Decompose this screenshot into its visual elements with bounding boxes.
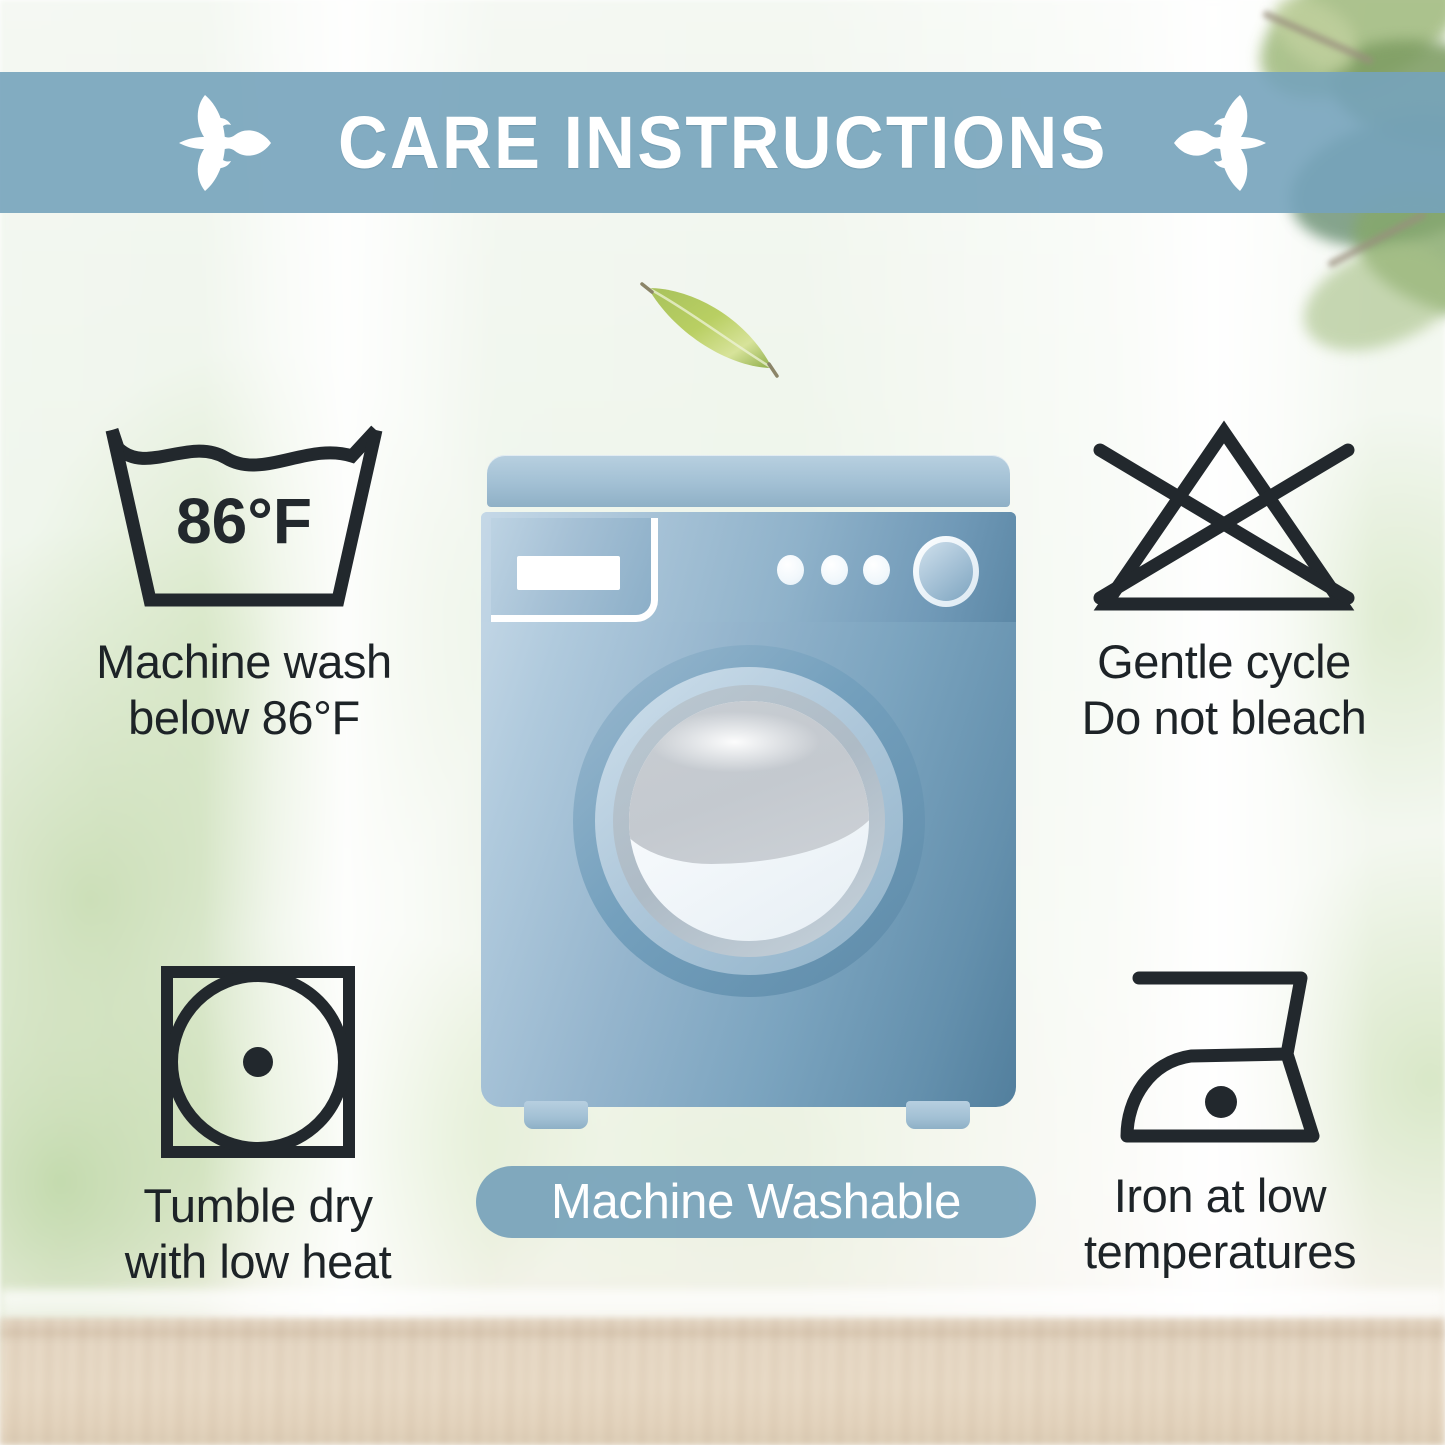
machine-washable-badge: Machine Washable bbox=[476, 1166, 1036, 1238]
fleur-de-lis-icon bbox=[165, 93, 285, 193]
machine-foot bbox=[524, 1101, 588, 1129]
program-dial-inner bbox=[919, 542, 973, 601]
fleur-de-lis-icon bbox=[1160, 93, 1280, 193]
detergent-drawer-slot bbox=[517, 556, 620, 590]
control-indicator-dot bbox=[863, 555, 890, 585]
care-symbol-caption: Gentle cycle Do not bleach bbox=[1082, 634, 1367, 747]
care-symbol-machine-wash: 86°F Machine wash below 86°F bbox=[24, 418, 464, 747]
control-indicator-dot bbox=[821, 555, 848, 585]
door-ring-inner bbox=[613, 685, 885, 957]
care-symbol-do-not-bleach: Gentle cycle Do not bleach bbox=[1004, 418, 1444, 747]
door-highlight bbox=[648, 711, 821, 773]
table-edge-shadow bbox=[0, 1330, 1445, 1340]
wash-temperature-label: 86°F bbox=[176, 485, 312, 557]
iron-one-dot-icon bbox=[1105, 962, 1335, 1152]
machine-lid bbox=[487, 455, 1010, 507]
door-ring-outer bbox=[595, 667, 903, 975]
care-symbol-caption: Machine wash below 86°F bbox=[96, 634, 392, 747]
machine-washable-label: Machine Washable bbox=[551, 1174, 961, 1230]
door-glass bbox=[629, 701, 869, 941]
control-indicator-dot bbox=[777, 555, 804, 585]
washing-machine-illustration bbox=[481, 455, 1016, 1125]
leaf-icon bbox=[636, 272, 786, 382]
page-title: CARE INSTRUCTIONS bbox=[338, 100, 1108, 185]
header-banner: CARE INSTRUCTIONS bbox=[0, 72, 1445, 213]
crossed-triangle-icon bbox=[1074, 418, 1374, 618]
wash-tub-icon: 86°F bbox=[94, 418, 394, 618]
tumble-dry-low-icon bbox=[153, 962, 363, 1162]
care-instructions-graphic: CARE INSTRUCTIONS bbox=[0, 0, 1445, 1445]
care-symbol-caption: Tumble dry with low heat bbox=[125, 1178, 392, 1291]
care-symbol-caption: Iron at low temperatures bbox=[1084, 1168, 1356, 1281]
machine-door bbox=[573, 645, 925, 997]
care-symbol-iron-low: Iron at low temperatures bbox=[1000, 962, 1440, 1281]
detergent-drawer bbox=[491, 518, 658, 622]
care-symbol-tumble-dry: Tumble dry with low heat bbox=[38, 962, 478, 1291]
machine-foot bbox=[906, 1101, 970, 1129]
program-dial-knob bbox=[913, 536, 979, 607]
